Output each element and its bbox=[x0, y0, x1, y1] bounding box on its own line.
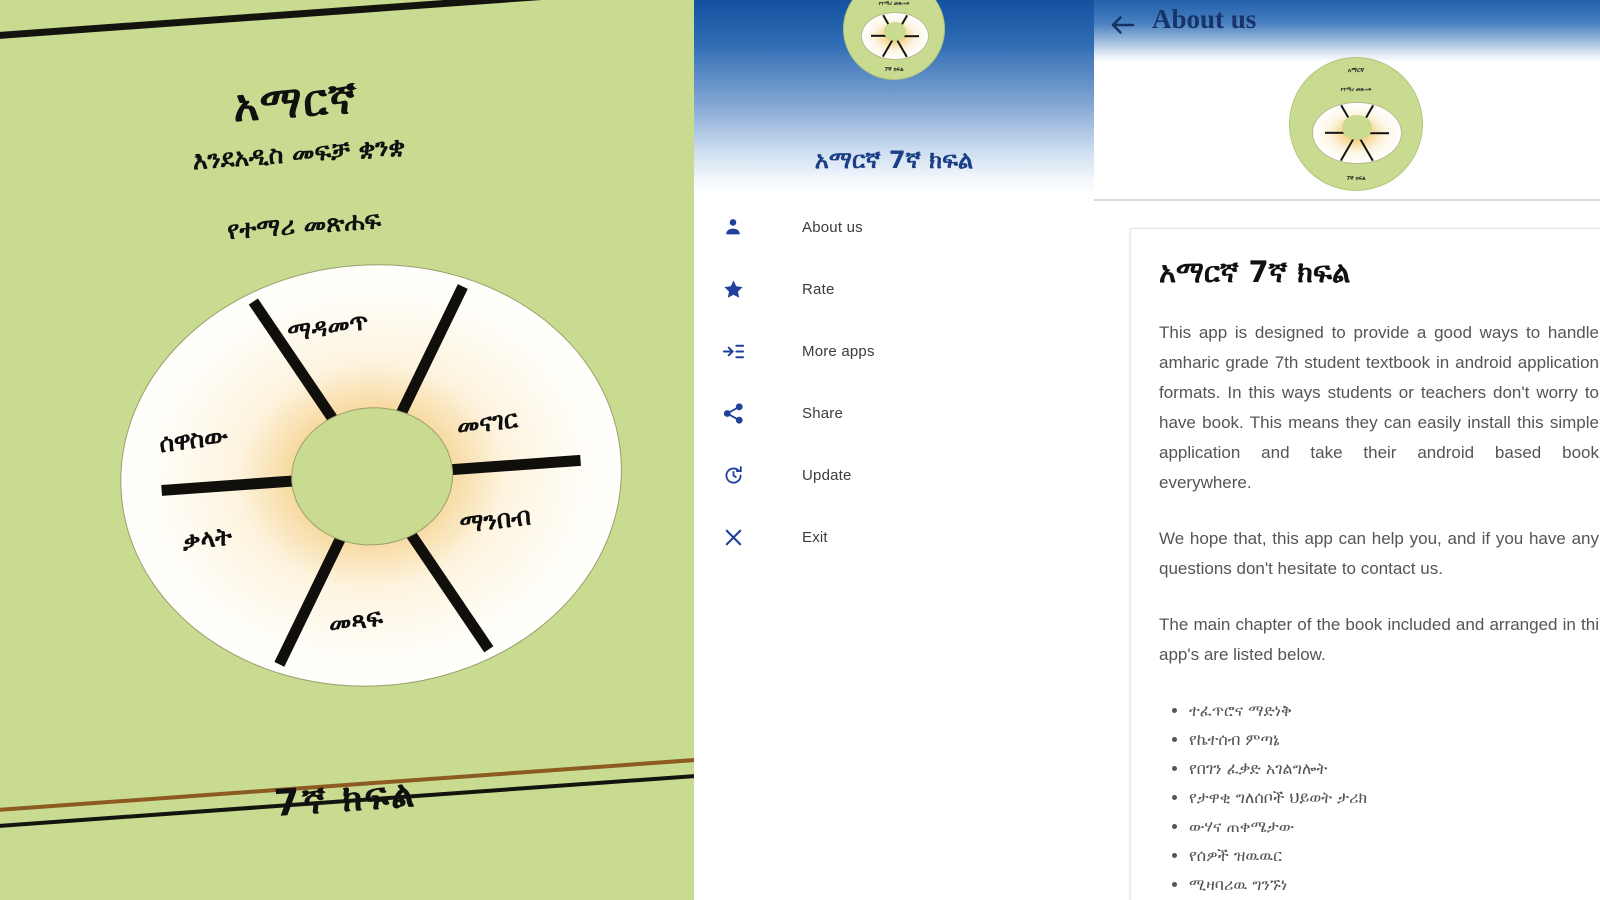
drawer-menu: About us Rate More apps bbox=[694, 196, 1094, 568]
mini-cover-art: አማርኛ የተማሪ መጽሐፍ 7ኛ ክፍል bbox=[844, 0, 944, 79]
mini-hub bbox=[884, 22, 906, 41]
about-paragraph: We hope that, this app can help you, and… bbox=[1159, 524, 1599, 584]
page-title: About us bbox=[1152, 4, 1256, 35]
mini-title: አማርኛ bbox=[1290, 67, 1422, 75]
mini-cover-art: አማርኛ የተማሪ መጽሐፍ 7ኛ ክፍል bbox=[1290, 58, 1422, 190]
list-item: ውሃና ጠቀሜታው bbox=[1189, 812, 1600, 841]
drawer-app-title: አማርኛ 7ኛ ክፍል bbox=[694, 146, 1094, 174]
update-icon bbox=[720, 462, 746, 488]
cover-wheel-diagram: ማዳመጥ መናገር ማንበብ መጻፍ ቃላት ሰዋስው bbox=[106, 247, 635, 702]
menu-item-rate[interactable]: Rate bbox=[694, 258, 1094, 320]
mini-grade: 7ኛ ክፍል bbox=[1290, 176, 1422, 183]
menu-item-about-us[interactable]: About us bbox=[694, 196, 1094, 258]
mini-subtitle: የተማሪ መጽሐፍ bbox=[844, 1, 944, 7]
wheel-disc bbox=[106, 247, 637, 704]
person-icon bbox=[720, 214, 746, 240]
menu-item-more-apps[interactable]: More apps bbox=[694, 320, 1094, 382]
mini-wheel bbox=[861, 12, 929, 60]
menu-item-label: About us bbox=[802, 219, 863, 236]
menu-item-label: More apps bbox=[802, 343, 875, 360]
drawer-app-logo: አማርኛ የተማሪ መጽሐፍ 7ኛ ክፍል bbox=[843, 0, 945, 80]
mini-subtitle: የተማሪ መጽሐፍ bbox=[1290, 87, 1422, 93]
list-item: ሚዛባሪዉ ግንኙነ bbox=[1189, 870, 1600, 899]
about-paragraph: The main chapter of the book included an… bbox=[1159, 610, 1599, 670]
share-icon bbox=[720, 400, 746, 426]
wheel-hub bbox=[286, 402, 457, 551]
list-item: የኬተሰብ ምጣኔ bbox=[1189, 725, 1600, 754]
mini-grade: 7ኛ ክፍል bbox=[844, 67, 944, 74]
menu-item-label: Update bbox=[802, 467, 852, 484]
cover-content: አማርኛ እንደአዲስ መፍቻ ቋንቋ የተማሪ መጽሐፍ ማዳመጥ መናገር bbox=[0, 0, 694, 900]
cover-grade: 7ኛ ክፍል bbox=[0, 746, 694, 853]
book-cover-pane: አማርኛ እንደአዲስ መፍቻ ቋንቋ የተማሪ መጽሐፍ ማዳመጥ መናገር bbox=[0, 0, 694, 900]
about-logo-band: አማርኛ የተማሪ መጽሐፍ 7ኛ ክፍል bbox=[1094, 62, 1600, 201]
list-item: ተፈጥሮና ማድነቅ bbox=[1189, 696, 1600, 725]
about-content-card: አማርኛ 7ኛ ክፍል This app is designed to prov… bbox=[1130, 228, 1600, 900]
list-item: የበገን ፈቃድ አገልግሎት bbox=[1189, 754, 1600, 783]
about-toolbar: About us bbox=[1094, 0, 1600, 62]
drawer-header: አማርኛ የተማሪ መጽሐፍ 7ኛ ክፍል አማርኛ 7ኛ ክፍል bbox=[694, 0, 1094, 196]
about-us-pane: About us አማርኛ የተማሪ መጽሐፍ 7ኛ ክፍል bbox=[1094, 0, 1600, 900]
wheel-label: ቃላት bbox=[181, 521, 234, 557]
about-paragraph: This app is designed to provide a good w… bbox=[1159, 318, 1599, 498]
star-icon bbox=[720, 276, 746, 302]
close-icon bbox=[720, 524, 746, 550]
list-item: የሰዎች ዝዉዉር bbox=[1189, 841, 1600, 870]
book-cover-sheet: አማርኛ እንደአዲስ መፍቻ ቋንቋ የተማሪ መጽሐፍ ማዳመጥ መናገር bbox=[0, 0, 694, 900]
menu-item-label: Rate bbox=[802, 281, 835, 298]
list-item: የታዋቂ ግለሰቦች ህይወት ታሪክ bbox=[1189, 783, 1600, 812]
menu-item-update[interactable]: Update bbox=[694, 444, 1094, 506]
chapter-list: ተፈጥሮና ማድነቅ የኬተሰብ ምጣኔ የበገን ፈቃድ አገልግሎት የታዋ… bbox=[1159, 696, 1600, 899]
navigation-drawer: አማርኛ የተማሪ መጽሐፍ 7ኛ ክፍል አማርኛ 7ኛ ክፍል bbox=[694, 0, 1094, 900]
mini-hub bbox=[1342, 115, 1372, 141]
back-arrow-icon[interactable] bbox=[1108, 10, 1138, 40]
menu-item-label: Exit bbox=[802, 529, 828, 546]
menu-item-exit[interactable]: Exit bbox=[694, 506, 1094, 568]
more-apps-icon bbox=[720, 338, 746, 364]
about-app-logo: አማርኛ የተማሪ መጽሐፍ 7ኛ ክፍል bbox=[1289, 57, 1423, 191]
mini-wheel bbox=[1312, 102, 1401, 165]
about-heading: አማርኛ 7ኛ ክፍል bbox=[1159, 255, 1600, 290]
menu-item-share[interactable]: Share bbox=[694, 382, 1094, 444]
menu-item-label: Share bbox=[802, 405, 843, 422]
app-screen: አማርኛ እንደአዲስ መፍቻ ቋንቋ የተማሪ መጽሐፍ ማዳመጥ መናገር bbox=[0, 0, 1600, 900]
